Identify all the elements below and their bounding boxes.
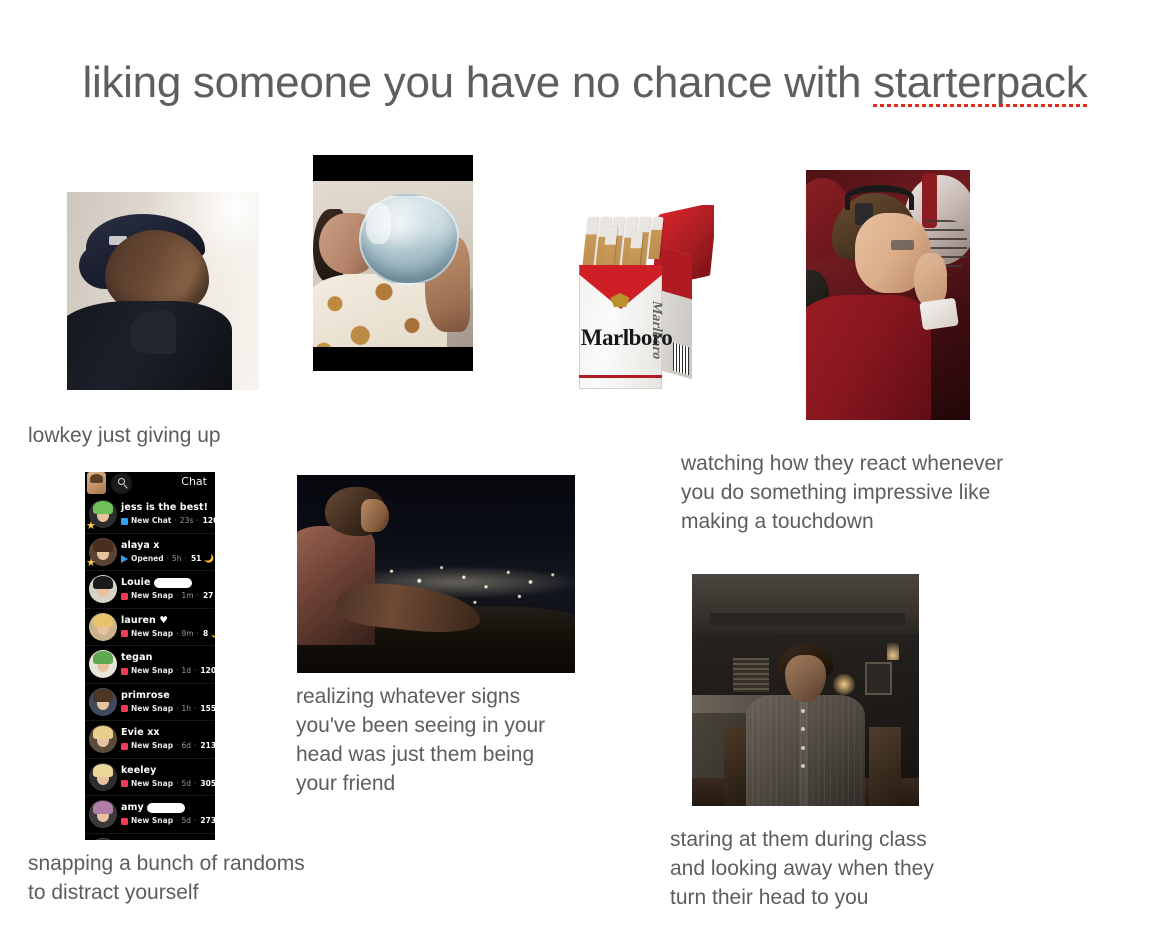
avatar[interactable] xyxy=(89,763,117,791)
chat-status-label: New Snap xyxy=(131,703,173,715)
separator-dot: · xyxy=(196,515,198,527)
redacted-name-bar xyxy=(147,803,185,813)
pendant-light-glow xyxy=(887,637,898,660)
chat-name: Evie xx xyxy=(121,726,215,739)
chat-status-line: New Snap·5d·305🌙 xyxy=(121,778,215,790)
avatar[interactable] xyxy=(89,650,117,678)
ceiling-beam-shape xyxy=(710,613,905,625)
photo-football-player xyxy=(806,170,970,420)
separator-dot: · xyxy=(167,553,169,565)
streak-count: 213 xyxy=(200,740,215,752)
snap-square-icon xyxy=(121,668,128,675)
chat-status-line: New Snap·9m·8🌙 xyxy=(121,628,215,640)
caption-snapping-randoms: snapping a bunch of randoms to distract … xyxy=(28,849,408,907)
streak-count: 305 xyxy=(200,778,215,790)
chat-name: amy xyxy=(121,801,215,814)
chat-timestamp: 5d xyxy=(181,815,191,827)
table-lamp-glow xyxy=(833,674,856,695)
separator-dot: · xyxy=(176,740,178,752)
separator-dot: · xyxy=(185,553,187,565)
streak-count: 120 xyxy=(203,515,215,527)
separator-dot: · xyxy=(174,515,176,527)
star-badge-icon: ★ xyxy=(86,557,97,568)
streak-count: 155 xyxy=(200,703,215,715)
snap-square-icon xyxy=(121,593,128,600)
snapchat-chat-row[interactable]: Evie xxNew Snap·6d·213🌙 xyxy=(85,721,215,759)
snapchat-chat-row[interactable]: primroseNew Snap·1h·155🌙 xyxy=(85,684,215,722)
avatar[interactable] xyxy=(89,575,117,603)
chat-status-line: New Snap·1d·120🌙 xyxy=(121,665,215,677)
ceiling-shape xyxy=(692,574,919,634)
separator-dot: · xyxy=(176,815,178,827)
chat-timestamp: 6d xyxy=(181,740,191,752)
chat-status-line: New Snap·1h·155🌙 xyxy=(121,703,215,715)
chat-timestamp: 5d xyxy=(181,778,191,790)
snapchat-chat-rows: ★jess is the best!New Chat·23s·120🌙★alay… xyxy=(85,496,215,840)
jug-label-shape xyxy=(366,203,392,244)
barcode-shape xyxy=(673,343,689,376)
snap-square-icon xyxy=(121,630,128,637)
chat-timestamp: 1d xyxy=(181,665,191,677)
chat-status-label: New Chat xyxy=(131,515,171,527)
streak-count: 8 xyxy=(203,628,208,640)
streak-count: 51 xyxy=(191,553,201,565)
page-title-misspelled-word: starterpack xyxy=(873,58,1087,109)
chat-name: keeley xyxy=(121,764,215,777)
chat-status-label: New Snap xyxy=(131,815,173,827)
caption-staring-during-class: staring at them during class and looking… xyxy=(670,825,1010,912)
streak-count: 27 xyxy=(203,590,213,602)
pack-side-chevron-shape xyxy=(661,247,692,300)
snapchat-header: Chat xyxy=(85,472,215,496)
avatar[interactable] xyxy=(89,725,117,753)
avatar[interactable] xyxy=(89,688,117,716)
chat-name: lauren ♥ xyxy=(121,614,215,627)
chat-status-line: New Snap·1m·27🌙 xyxy=(121,590,215,602)
separator-dot: · xyxy=(194,778,196,790)
chat-name: alaya x xyxy=(121,539,215,552)
snapchat-chat-row[interactable]: ★alaya xOpened·5h·51🌙 xyxy=(85,534,215,572)
snap-square-icon xyxy=(121,780,128,787)
page-title-prefix: liking someone you have no chance with xyxy=(83,58,874,107)
chat-timestamp: 23s xyxy=(180,515,193,527)
photo-woman-drinking-jug xyxy=(313,155,473,371)
chat-name: Louie xyxy=(121,576,215,589)
chat-status-label: New Snap xyxy=(131,740,173,752)
pack-bottom-redline xyxy=(579,375,662,378)
snap-square-icon xyxy=(121,818,128,825)
separator-dot: · xyxy=(197,628,199,640)
page-title: liking someone you have no chance with s… xyxy=(0,55,1170,111)
wall-mirror-shape xyxy=(865,662,892,694)
chat-timestamp: 9m xyxy=(181,628,193,640)
chat-status-label: New Snap xyxy=(131,778,173,790)
caption-realizing-signs: realizing whatever signs you've been see… xyxy=(296,682,576,798)
separator-dot: · xyxy=(194,740,196,752)
chat-timestamp: 1m xyxy=(181,590,193,602)
chair-right-shape xyxy=(869,727,901,806)
opened-arrow-icon xyxy=(121,555,128,563)
photo-night-city-overlook xyxy=(297,475,575,673)
chat-name: jess is the best! xyxy=(121,501,215,514)
chat-status-line: New Chat·23s·120🌙 xyxy=(121,515,215,527)
chat-name: •Marley• xyxy=(121,839,215,841)
streak-count: 273 xyxy=(200,815,215,827)
marlboro-wordmark-side: Marlboro xyxy=(648,299,664,361)
separator-dot: · xyxy=(197,590,199,602)
streak-count: 120 xyxy=(200,665,215,677)
chat-square-icon xyxy=(121,518,128,525)
chat-timestamp: 5h xyxy=(172,553,182,565)
chat-status-label: Opened xyxy=(131,553,164,565)
snapchat-chat-row[interactable]: keeleyNew Snap·5d·305🌙 xyxy=(85,759,215,797)
photo-man-in-dim-room xyxy=(692,574,919,806)
chat-status-label: New Snap xyxy=(131,628,173,640)
snapchat-chat-row[interactable]: LouieNew Snap·1m·27🌙 xyxy=(85,571,215,609)
snapchat-chat-row[interactable]: teganNew Snap·1d·120🌙 xyxy=(85,646,215,684)
shirt-placket-shape xyxy=(799,699,808,806)
eye-black-shape xyxy=(891,240,914,250)
snapchat-chat-row[interactable]: amyNew Snap·5d·273🌙 xyxy=(85,796,215,834)
separator-dot: · xyxy=(176,778,178,790)
caption-watching-reaction-touchdown: watching how they react whenever you do … xyxy=(681,449,1081,536)
separator-dot: · xyxy=(176,628,178,640)
chat-status-label: New Snap xyxy=(131,665,173,677)
letterbox-bottom xyxy=(313,347,473,371)
jersey-shape xyxy=(806,295,931,420)
collar-shape xyxy=(130,311,176,355)
photo-snapchat-chat-list: Chat ★jess is the best!New Chat·23s·120🌙… xyxy=(85,472,215,840)
snapchat-chat-row[interactable]: ★jess is the best!New Chat·23s·120🌙 xyxy=(85,496,215,534)
avatar[interactable] xyxy=(89,613,117,641)
snap-square-icon xyxy=(121,705,128,712)
letterbox-top xyxy=(313,155,473,181)
separator-dot: · xyxy=(176,590,178,602)
photo-man-with-backwards-cap xyxy=(67,192,259,390)
wristband-shape xyxy=(919,298,959,330)
separator-dot: · xyxy=(176,665,178,677)
chat-timestamp: 1h xyxy=(181,703,191,715)
separator-dot: · xyxy=(176,703,178,715)
snapchat-chat-row[interactable]: lauren ♥New Snap·9m·8🌙 xyxy=(85,609,215,647)
separator-dot: · xyxy=(194,815,196,827)
redacted-name-bar xyxy=(154,578,192,588)
star-badge-icon: ★ xyxy=(86,520,97,531)
separator-dot: · xyxy=(194,665,196,677)
snapchat-chat-row[interactable]: •Marley•Delivered·3h·34🌙 xyxy=(85,834,215,841)
separator-dot: · xyxy=(194,703,196,715)
snap-square-icon xyxy=(121,743,128,750)
chat-status-line: New Snap·5d·273🌙 xyxy=(121,815,215,827)
profile-avatar[interactable] xyxy=(87,472,106,494)
caption-lowkey-giving-up: lowkey just giving up xyxy=(28,421,348,450)
person-face-shape xyxy=(361,499,389,533)
photo-marlboro-cigarette-pack: Marlboro Marlboro xyxy=(566,205,714,405)
chat-status-line: Opened·5h·51🌙 xyxy=(121,553,215,565)
avatar[interactable] xyxy=(89,838,117,841)
chat-name: tegan xyxy=(121,651,215,664)
window-blinds-shape xyxy=(733,658,769,693)
chat-name: primrose xyxy=(121,689,215,702)
chat-status-line: New Snap·6d·213🌙 xyxy=(121,740,215,752)
snapchat-header-title: Chat xyxy=(181,475,207,488)
chat-status-label: New Snap xyxy=(131,590,173,602)
moon-icon: 🌙 xyxy=(211,628,215,640)
search-icon xyxy=(118,478,125,485)
moon-icon: 🌙 xyxy=(204,553,214,565)
avatar[interactable] xyxy=(89,800,117,828)
